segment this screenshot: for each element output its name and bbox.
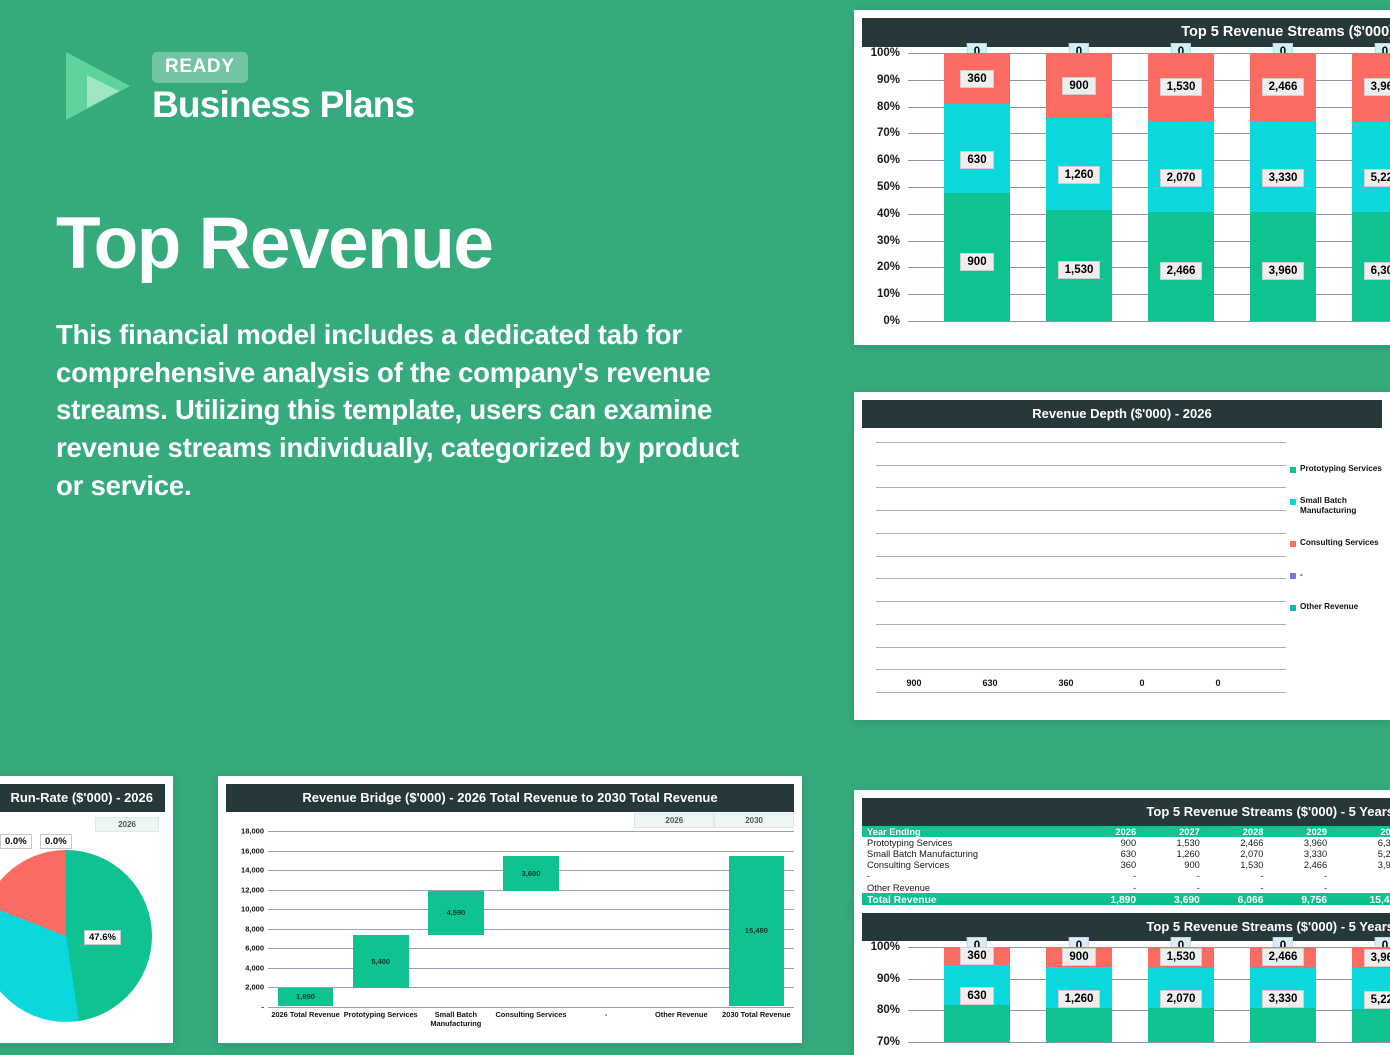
bar-segment: 900: [1046, 53, 1112, 118]
chart-title: Revenue Bridge ($'000) - 2026 Total Reve…: [226, 784, 794, 812]
stacked-bar-column: 0360630900: [944, 53, 1010, 321]
revenue-depth-chart: 90063036000 Prototyping ServicesSmall Ba…: [862, 442, 1382, 692]
waterfall-column: 5,400: [343, 831, 418, 1006]
bar-segment: 1,530: [1046, 210, 1112, 321]
pie-area: 0.0% 0.0% 19.0% 33.3% 47.6%: [0, 836, 165, 1036]
y-axis: 0%10%20%30%40%50%60%70%80%90%100%: [862, 53, 904, 321]
bar-segment: 2,070: [1148, 121, 1214, 212]
gridline: [268, 1007, 794, 1008]
table-cell-value: 2,070: [1205, 848, 1269, 859]
bridge-badge-start: 2026: [634, 813, 714, 828]
y-tick-label: 0%: [883, 315, 900, 327]
bar-value-label: 360: [960, 70, 993, 88]
bar-segment: 630: [944, 965, 1010, 1005]
stacked-bar-column: 03,9605,2206,300: [1352, 53, 1390, 321]
chart-legend: Prototyping ServicesSmall Batch Manufact…: [1286, 442, 1382, 692]
y-tick-label: 80%: [877, 101, 900, 113]
bar-group: 036063009001,26001,5302,07002,4663,33003…: [908, 947, 1390, 1042]
table-panel-top5-5years: Top 5 Revenue Streams ($'000) - 5 Years …: [854, 790, 1390, 912]
legend-swatch: [1290, 541, 1296, 547]
bar-column: 630: [952, 678, 1028, 691]
waterfall-column: [569, 831, 644, 1006]
pie-label-dash: 0.0%: [40, 834, 72, 849]
y-tick-label: 10,000: [241, 905, 264, 914]
bar-segment: 3,960: [1250, 212, 1316, 321]
bar-value-label: 4,590: [446, 908, 465, 917]
plot-area: 036063009001,26001,5302,07002,4663,33003…: [908, 947, 1390, 1042]
bar-segment: 900: [944, 193, 1010, 321]
bar-value-label: 630: [960, 987, 993, 1005]
x-tick-label: Small Batch Manufacturing: [418, 1010, 493, 1028]
bar-value-label: 900: [1062, 77, 1095, 95]
bar-group: 1,8905,4004,5903,60015,480: [268, 831, 794, 1006]
chart-panel-run-rate-pie: Run-Rate ($'000) - 2026 2026 0.0% 0.0% 1…: [0, 776, 173, 1043]
table-header-row: Year Ending20262027202820292030: [862, 826, 1390, 837]
stacked-bar-column: 02,4663,3303,960: [1250, 53, 1316, 321]
bar-segment: 630: [944, 104, 1010, 193]
bar-segment: 3,330: [1250, 121, 1316, 212]
bridge-year-legend: 2026 2030: [226, 813, 794, 828]
y-tick-label: 60%: [877, 154, 900, 166]
table-cell-label: Other Revenue: [862, 882, 1077, 893]
stacked-bar-column: 02,4663,330: [1250, 947, 1316, 1042]
bar-segment: 900: [1046, 947, 1112, 967]
waterfall-column: 4,590: [418, 831, 493, 1006]
x-tick-label: 2026 Total Revenue: [268, 1010, 343, 1028]
bar-value-label: 6,300: [1364, 262, 1390, 280]
legend-label: -: [1300, 570, 1303, 580]
x-tick-label: 2030 Total Revenue: [719, 1010, 794, 1028]
y-tick-label: -: [262, 1003, 265, 1012]
bar-value-label: 15,480: [745, 926, 768, 935]
chart-panel-revenue-bridge: Revenue Bridge ($'000) - 2026 Total Reve…: [218, 776, 802, 1043]
hero-section: READY Business Plans Top Revenue This fi…: [56, 48, 816, 504]
table-cell-value: -: [1077, 871, 1141, 882]
legend-item: Other Revenue: [1290, 602, 1382, 612]
chart-title: Run-Rate ($'000) - 2026: [0, 784, 165, 812]
bar-value-label: 0: [1215, 678, 1220, 688]
waterfall-bar: 1,890: [278, 988, 334, 1006]
bar-value-label: 1,890: [296, 992, 315, 1001]
legend-item: Small Batch Manufacturing: [1290, 496, 1382, 516]
pie-label-prototyping: 47.6%: [84, 930, 121, 945]
page-description: This financial model includes a dedicate…: [56, 316, 756, 504]
waterfall-column: [644, 831, 719, 1006]
bar-segment: 6,300: [1352, 212, 1390, 321]
pie-disc: [0, 850, 152, 1022]
bar-value-label: 3,960: [1364, 78, 1390, 96]
table-col-header-year: 2026: [1077, 826, 1141, 837]
legend-swatch: [1290, 467, 1296, 473]
bar-value-label: 5,220: [1364, 991, 1390, 1009]
page-title: Top Revenue: [56, 207, 816, 280]
bar-value-label: 900: [960, 253, 993, 271]
table-cell-value: 900: [1077, 837, 1141, 848]
x-tick-label: Other Revenue: [644, 1010, 719, 1028]
table-cell-value: -: [1141, 871, 1205, 882]
y-tick-label: 80%: [877, 1004, 900, 1016]
bar-column: 0: [1104, 678, 1180, 691]
table-cell-value: 3,330: [1268, 848, 1332, 859]
bar-column: 0: [1180, 678, 1256, 691]
table-title: Top 5 Revenue Streams ($'000) - 5 Years: [862, 798, 1390, 826]
table-cell-value: 1,530: [1205, 860, 1269, 871]
y-tick-label: 70%: [877, 127, 900, 139]
bar-value-label: 0: [1139, 678, 1144, 688]
bar-value-label: 5,400: [371, 957, 390, 966]
ready-badge: READY: [152, 52, 248, 83]
bar-value-label: 1,530: [1058, 261, 1101, 279]
bar-column: 900: [876, 678, 952, 691]
chart-title: Top 5 Revenue Streams ($'000) - 5 Years: [862, 913, 1390, 941]
legend-item: Prototyping Services: [1290, 464, 1382, 474]
y-tick-label: 70%: [877, 1036, 900, 1048]
bar-segment: [1352, 1009, 1390, 1043]
legend-label: Other Revenue: [1300, 602, 1358, 612]
bar-value-label: 900: [906, 678, 921, 688]
pie-year-legend: 2026: [0, 814, 165, 832]
table-row: ------: [862, 871, 1390, 882]
table-col-header-year: 2029: [1268, 826, 1332, 837]
table-cell-value: 6,300: [1332, 837, 1390, 848]
bar-segment: 3,960: [1352, 53, 1390, 122]
y-tick-label: 40%: [877, 208, 900, 220]
legend-item: Consulting Services: [1290, 538, 1382, 548]
table-body: Prototyping Services9001,5302,4663,9606,…: [862, 837, 1390, 907]
legend-swatch: [1290, 605, 1296, 611]
table-cell-label: -: [862, 871, 1077, 882]
x-tick-label: -: [569, 1010, 644, 1028]
table-cell-value: -: [1205, 882, 1269, 893]
bar-segment: 360: [944, 947, 1010, 965]
bar-value-label: 3,600: [522, 869, 541, 878]
table-cell-value: -: [1141, 882, 1205, 893]
bar-segment: 1,530: [1148, 53, 1214, 121]
legend-item: -: [1290, 570, 1382, 580]
bar-segment: [1148, 1008, 1214, 1042]
bar-segment: 2,070: [1148, 968, 1214, 1008]
table-cell-value: 3,960: [1268, 837, 1332, 848]
bar-segment: 2,466: [1148, 212, 1214, 321]
bar-segment: 360: [944, 53, 1010, 104]
brand-name: Business Plans: [152, 86, 414, 125]
bar-value-label: 900: [1062, 948, 1095, 966]
y-axis: -2,0004,0006,0008,00010,00012,00014,0001…: [226, 831, 268, 1007]
waterfall-bar: 15,480: [729, 856, 785, 1007]
stacked-chart-main: 0%10%20%30%40%50%60%70%80%90%100% 036063…: [862, 53, 1390, 321]
table-cell-value: 2,466: [1205, 837, 1269, 848]
brand-logo: READY Business Plans: [56, 48, 816, 125]
legend-swatch: [1290, 499, 1296, 505]
table-cell-label: Consulting Services: [862, 860, 1077, 871]
bar-segment: 3,960: [1352, 947, 1390, 968]
waterfall-bar: 4,590: [428, 891, 484, 936]
bar-value-label: 5,220: [1364, 169, 1390, 187]
y-tick-label: 20%: [877, 261, 900, 273]
y-tick-label: 18,000: [241, 827, 264, 836]
table-row: Other Revenue-----: [862, 882, 1390, 893]
plot-area: 1,8905,4004,5903,60015,480: [268, 831, 794, 1007]
chart-title: Top 5 Revenue Streams ($'000): [862, 18, 1390, 47]
y-tick-label: 100%: [871, 47, 900, 59]
bar-value-label: 3,330: [1262, 990, 1305, 1008]
bar-value-label: 1,260: [1058, 990, 1101, 1008]
legend-swatch: [1290, 573, 1296, 579]
y-tick-label: 90%: [877, 973, 900, 985]
waterfall-bar: 5,400: [353, 935, 409, 988]
legend-label: Small Batch Manufacturing: [1300, 496, 1382, 516]
bar-column: 360: [1028, 678, 1104, 691]
table-cell-value: 360: [1077, 860, 1141, 871]
table-cell-value: -: [1332, 882, 1390, 893]
bar-value-label: 360: [1058, 678, 1073, 688]
table-col-header-year: 2030: [1332, 826, 1390, 837]
y-tick-label: 2,000: [245, 983, 264, 992]
bar-segment: 1,530: [1148, 947, 1214, 968]
bar-value-label: 630: [960, 151, 993, 169]
x-tick-label: Prototyping Services: [343, 1010, 418, 1028]
y-tick-label: 100%: [871, 941, 900, 953]
table-cell-value: -: [1077, 882, 1141, 893]
bar-value-label: 360: [960, 947, 993, 965]
y-tick-label: 8,000: [245, 924, 264, 933]
table-cell-value: -: [1268, 882, 1332, 893]
revenue-table: Year Ending20262027202820292030 Prototyp…: [862, 826, 1390, 907]
table-row: Consulting Services3609001,5302,4663,960: [862, 860, 1390, 871]
stacked-bar-column: 01,5302,0702,466: [1148, 53, 1214, 321]
bar-value-label: 3,330: [1262, 169, 1305, 187]
bar-value-label: 1,530: [1160, 78, 1203, 96]
x-axis: 2026 Total RevenuePrototyping ServicesSm…: [226, 1010, 794, 1028]
bar-value-label: 2,070: [1160, 169, 1203, 187]
stacked-chart-bottom: 70%80%90%100% 036063009001,26001,5302,07…: [862, 947, 1390, 1042]
legend-label: Consulting Services: [1300, 538, 1379, 548]
y-tick-label: 4,000: [245, 963, 264, 972]
table-head: Year Ending20262027202820292030: [862, 826, 1390, 837]
stacked-bar-column: 01,5302,070: [1148, 947, 1214, 1042]
table-cell-value: 5,220: [1332, 848, 1390, 859]
y-tick-label: 6,000: [245, 944, 264, 953]
bar-value-label: 2,466: [1160, 262, 1203, 280]
table-cell-value: -: [1332, 871, 1390, 882]
table-cell-value: 1,260: [1141, 848, 1205, 859]
stacked-bar-column: 03,9605,220: [1352, 947, 1390, 1042]
y-tick-label: 12,000: [241, 885, 264, 894]
bar-group: 036063090009001,2601,53001,5302,0702,466…: [908, 53, 1390, 321]
y-tick-label: 90%: [877, 74, 900, 86]
table-row: Prototyping Services9001,5302,4663,9606,…: [862, 837, 1390, 848]
y-tick-label: 14,000: [241, 866, 264, 875]
stacked-bar-column: 0360630: [944, 947, 1010, 1042]
bar-segment: 5,220: [1352, 968, 1390, 1008]
table-cell-value: 2,466: [1268, 860, 1332, 871]
bar-value-label: 2,466: [1262, 948, 1305, 966]
bar-segment: 2,466: [1250, 53, 1316, 121]
pie-year-badge: 2026: [95, 817, 159, 832]
legend-label: Prototyping Services: [1300, 464, 1382, 474]
bar-segment: [944, 1005, 1010, 1042]
table-cell-value: -: [1268, 871, 1332, 882]
chart-panel-top5-stacked-5years: Top 5 Revenue Streams ($'000) - 5 Years …: [854, 905, 1390, 1055]
stacked-bar-column: 09001,2601,530: [1046, 53, 1112, 321]
play-triangle-icon: [56, 48, 138, 124]
stacked-bar-column: 09001,260: [1046, 947, 1112, 1042]
bar-segment: 1,260: [1046, 967, 1112, 1007]
bar-value-label: 1,530: [1160, 948, 1203, 966]
x-tick-label: Consulting Services: [493, 1010, 568, 1028]
bar-segment: [1046, 1008, 1112, 1042]
y-tick-label: 30%: [877, 235, 900, 247]
bar-segment: 5,220: [1352, 122, 1390, 212]
table-cell-value: 1,530: [1141, 837, 1205, 848]
bar-value-label: 2,070: [1160, 990, 1203, 1008]
waterfall-column: 15,480: [719, 831, 794, 1006]
table-col-header-year: 2027: [1141, 826, 1205, 837]
table-cell-value: -: [1205, 871, 1269, 882]
y-axis: 70%80%90%100%: [862, 947, 904, 1042]
table-cell-value: 3,960: [1332, 860, 1390, 871]
table-col-header-year: 2028: [1205, 826, 1269, 837]
plot-area: 90063036000: [876, 442, 1286, 692]
bar-value-label: 3,960: [1364, 949, 1390, 967]
bar-segment: 1,260: [1046, 118, 1112, 210]
bar-value-label: 3,960: [1262, 262, 1305, 280]
y-tick-label: 16,000: [241, 846, 264, 855]
table-cell-value: 630: [1077, 848, 1141, 859]
bar-value-label: 1,260: [1058, 166, 1101, 184]
bar-value-label: 630: [982, 678, 997, 688]
bar-segment: 3,330: [1250, 968, 1316, 1008]
table-cell-label: Small Batch Manufacturing: [862, 848, 1077, 859]
chart-panel-revenue-depth: Revenue Depth ($'000) - 2026 90063036000…: [854, 392, 1390, 720]
waterfall-chart: -2,0004,0006,0008,00010,00012,00014,0001…: [226, 831, 794, 1007]
chart-panel-top5-stacked: Top 5 Revenue Streams ($'000) 0%10%20%30…: [854, 10, 1390, 345]
waterfall-bar: 3,600: [503, 856, 559, 891]
bar-value-label: 2,466: [1262, 78, 1305, 96]
table-col-header-label: Year Ending: [862, 826, 1077, 837]
bridge-badge-end: 2030: [714, 813, 794, 828]
waterfall-column: 1,890: [268, 831, 343, 1006]
pie-label-other: 0.0%: [0, 834, 32, 849]
bar-segment: 2,466: [1250, 947, 1316, 968]
y-tick-label: 50%: [877, 181, 900, 193]
plot-area: 036063090009001,2601,53001,5302,0702,466…: [908, 53, 1390, 321]
table-row: Small Batch Manufacturing6301,2602,0703,…: [862, 848, 1390, 859]
waterfall-column: 3,600: [493, 831, 568, 1006]
table-cell-label: Prototyping Services: [862, 837, 1077, 848]
y-tick-label: 10%: [877, 288, 900, 300]
brand-text: READY Business Plans: [152, 48, 414, 125]
gridline: [876, 692, 1286, 693]
table-cell-value: 900: [1141, 860, 1205, 871]
chart-title: Revenue Depth ($'000) - 2026: [862, 400, 1382, 428]
bar-group: 90063036000: [876, 442, 1256, 691]
gridline: [908, 321, 1390, 322]
bar-segment: [1250, 1008, 1316, 1042]
